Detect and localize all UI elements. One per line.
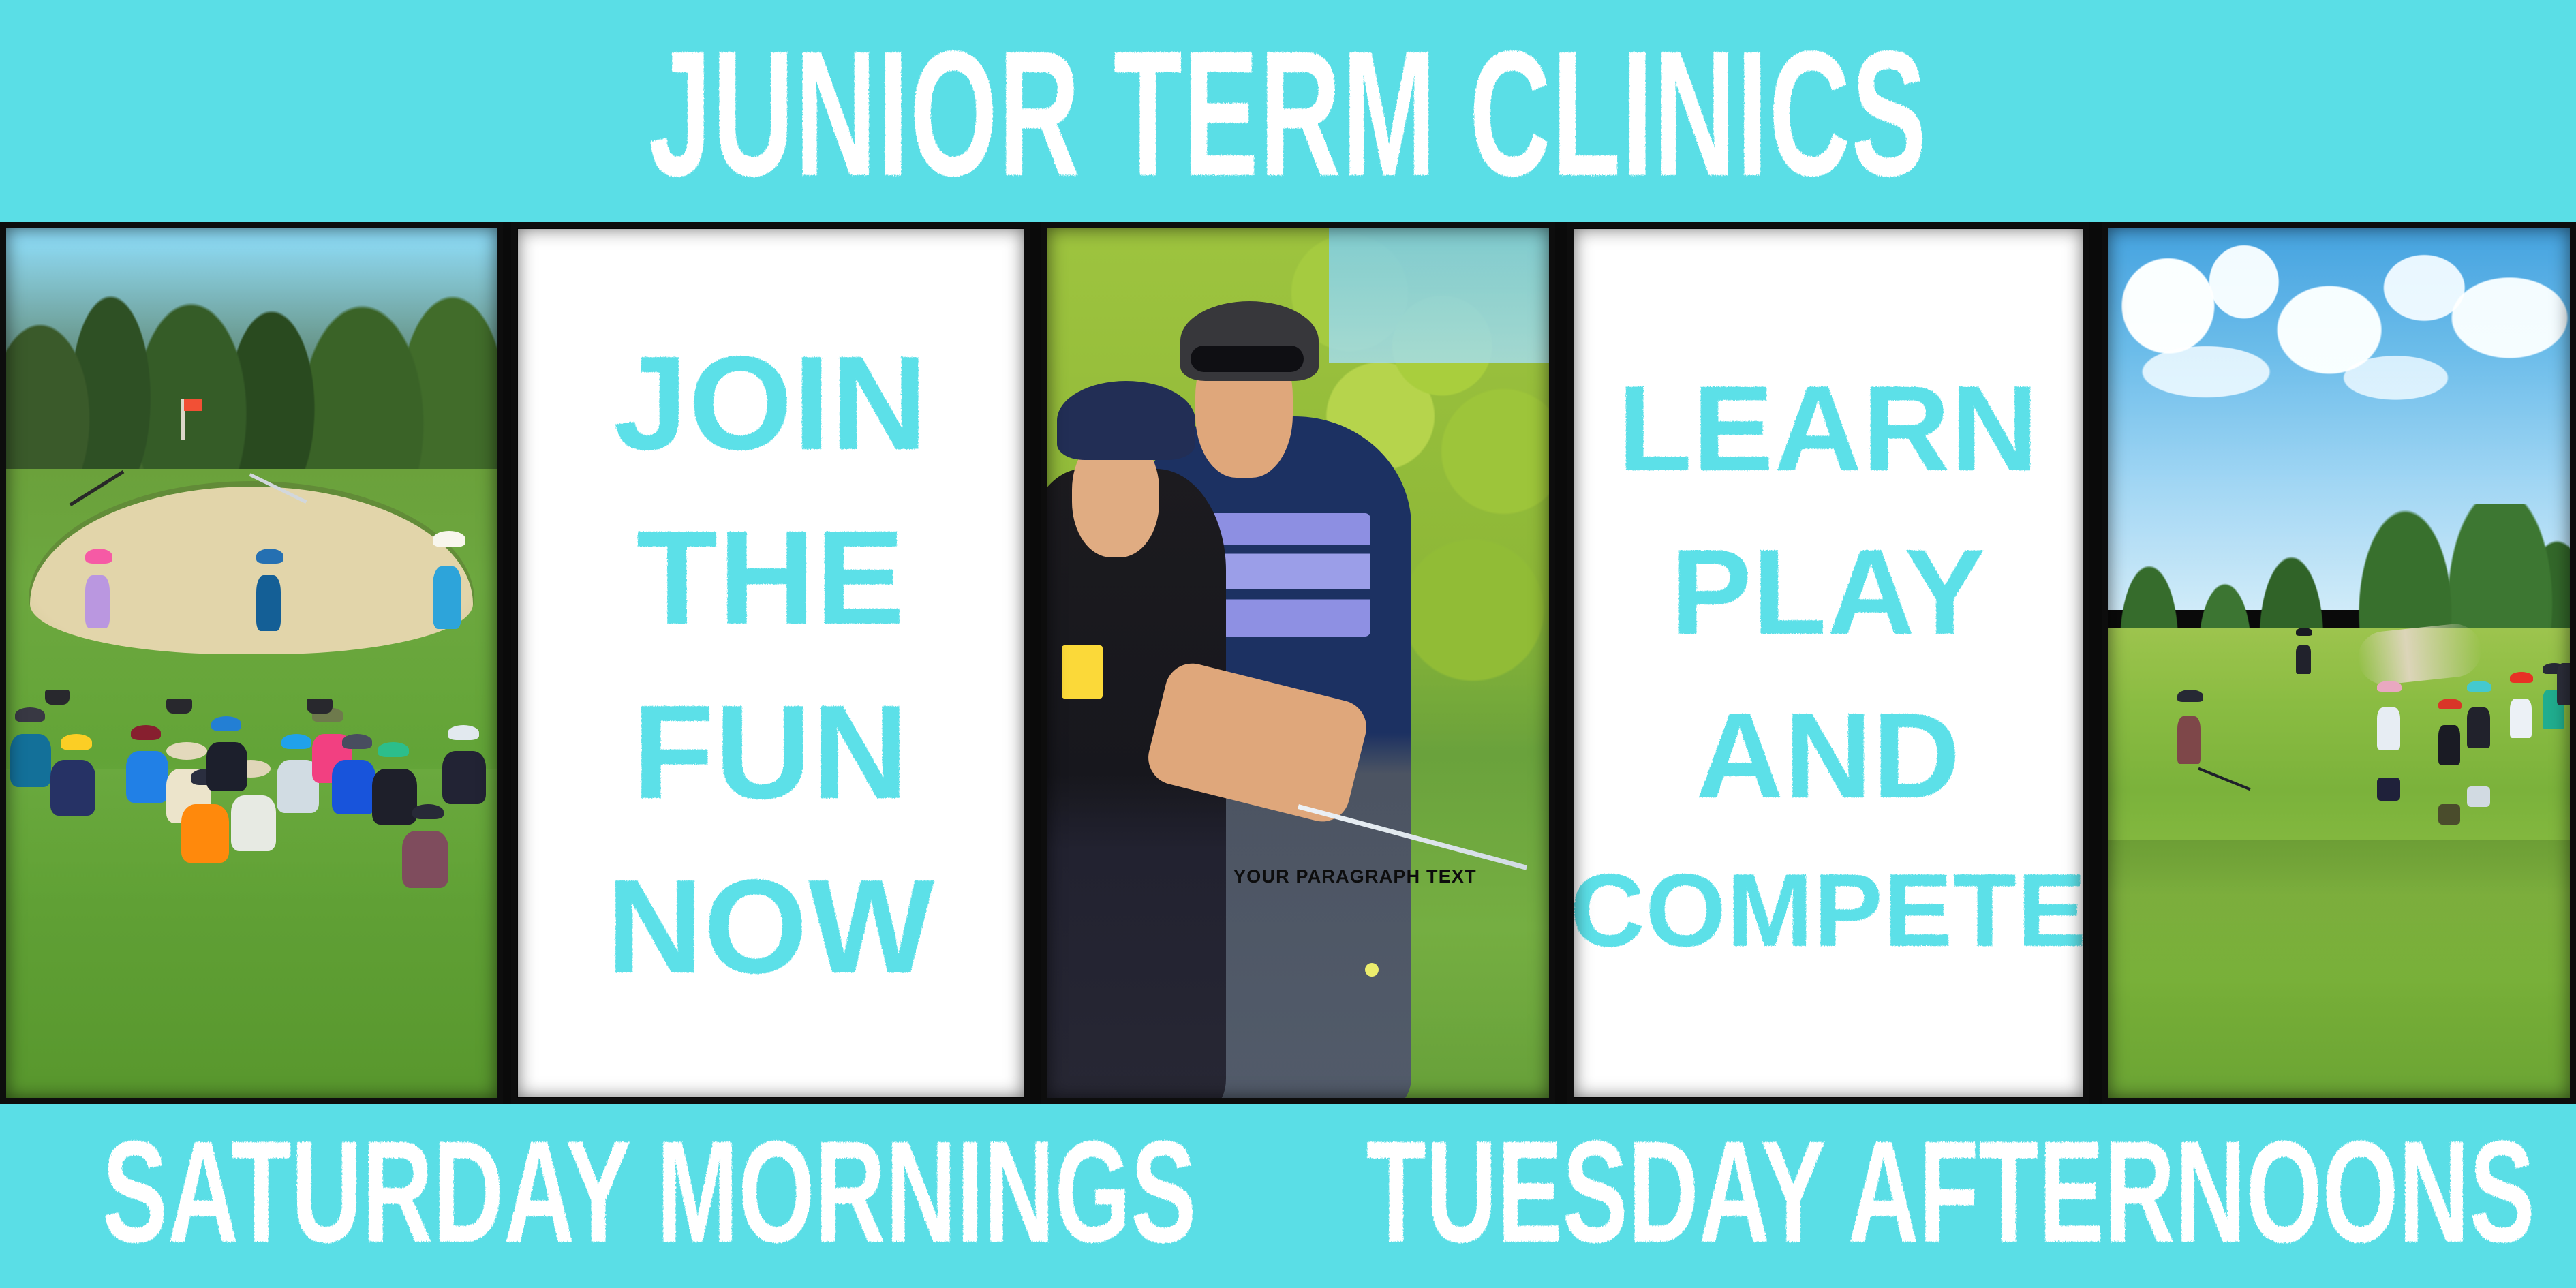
learn-card-line-1: LEARN (1618, 368, 2039, 489)
card-join-the-fun-now: JOIN THE FUN NOW (511, 222, 1030, 1104)
learn-card-line-3: AND (1696, 695, 1961, 816)
learn-card-line-4: COMPETE (1570, 859, 2087, 962)
join-card-line-2: THE (637, 511, 906, 645)
footer-left-text: SATURDAY MORNINGS (102, 1120, 1197, 1265)
photo-coach-teaching-swing (1041, 222, 1555, 1104)
join-card-line-1: JOIN (613, 337, 927, 470)
panel-strip: JOIN THE FUN NOW (0, 222, 2576, 1104)
bunker-lesson-image (0, 222, 503, 1104)
footer-right-text: TUESDAY AFTERNOONS (1366, 1120, 2535, 1265)
join-card-line-4: NOW (607, 860, 935, 994)
card-learn-play-and-compete: LEARN PLAY AND COMPETE (1567, 222, 2089, 1104)
page-title: JUNIOR TERM CLINICS (649, 29, 1928, 198)
tee-box-image (2102, 222, 2576, 1104)
join-card-line-3: FUN (632, 686, 909, 819)
learn-card-line-2: PLAY (1671, 532, 1986, 653)
promo-banner: JUNIOR TERM CLINICS (0, 0, 2576, 1288)
paragraph-placeholder-text: YOUR PARAGRAPH TEXT (1233, 866, 1477, 887)
footer-bar: SATURDAY MORNINGS TUESDAY AFTERNOONS (0, 1104, 2576, 1288)
photo-group-bunker-lesson (0, 222, 503, 1104)
header-bar: JUNIOR TERM CLINICS (0, 0, 2576, 222)
learn-card-surface: LEARN PLAY AND COMPETE (1574, 229, 2083, 1097)
join-card-surface: JOIN THE FUN NOW (518, 229, 1024, 1097)
photo-tee-box-juniors (2102, 222, 2576, 1104)
coach-swing-image (1041, 222, 1555, 1104)
